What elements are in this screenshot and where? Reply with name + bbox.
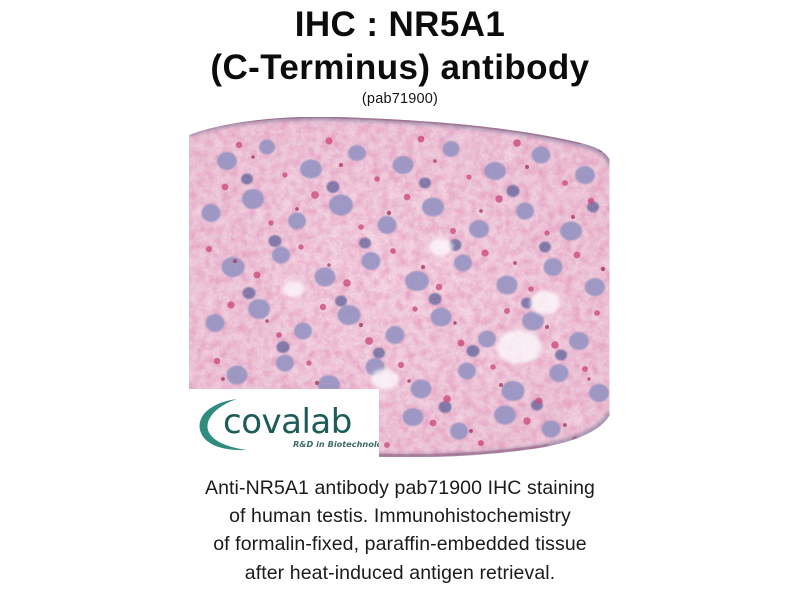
title-block: IHC : NR5A1 (C-Terminus) antibody (pab71… bbox=[0, 0, 800, 108]
caption-line-1: Anti-NR5A1 antibody pab71900 IHC stainin… bbox=[205, 474, 595, 502]
caption-line-2: of human testis. Immunohistochemistry bbox=[205, 502, 595, 530]
catalog-number: (pab71900) bbox=[0, 92, 800, 108]
product-image-page: IHC : NR5A1 (C-Terminus) antibody (pab71… bbox=[0, 0, 800, 600]
page-title-line-2: (C-Terminus) antibody bbox=[0, 47, 800, 90]
caption-line-4: after heat-induced antigen retrieval. bbox=[205, 559, 595, 587]
svg-text:covalab: covalab bbox=[223, 402, 352, 442]
figure-caption: Anti-NR5A1 antibody pab71900 IHC stainin… bbox=[205, 474, 595, 586]
caption-line-3: of formalin-fixed, paraffin-embedded tis… bbox=[205, 530, 595, 558]
covalab-watermark: covalab R&D in Biotechnology bbox=[189, 389, 379, 457]
covalab-logo-icon: covalab R&D in Biotechnology bbox=[189, 389, 379, 457]
page-title-line-1: IHC : NR5A1 bbox=[0, 4, 800, 47]
svg-text:R&D in Biotechnology: R&D in Biotechnology bbox=[293, 439, 379, 449]
ihc-micrograph-figure: covalab R&D in Biotechnology bbox=[189, 117, 611, 457]
